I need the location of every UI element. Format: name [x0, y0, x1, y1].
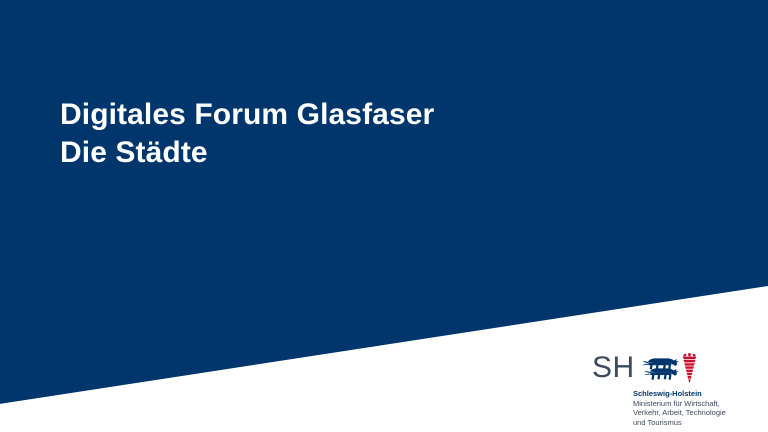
sh-wordmark: SH — [592, 353, 635, 383]
logo-department-line-1: Ministerium für Wirtschaft, — [633, 399, 752, 409]
coat-of-arms — [640, 350, 700, 386]
logo-department-line-3: und Tourismus — [633, 418, 752, 428]
logo-department-line-2: Verkehr, Arbeit, Technologie — [633, 408, 752, 418]
title-slide: Digitales Forum Glasfaser Die Städte SH — [0, 0, 768, 432]
slide-title-line-2: Die Städte — [60, 134, 660, 172]
logo-text-block: Schleswig-Holstein Ministerium für Wirts… — [633, 389, 752, 427]
nettle-leaf-icon — [682, 353, 696, 383]
slide-title-line-1: Digitales Forum Glasfaser — [60, 96, 660, 134]
schleswig-holstein-logo: SH — [592, 350, 752, 427]
title-block: Digitales Forum Glasfaser Die Städte — [60, 96, 660, 172]
logo-organisation: Schleswig-Holstein — [633, 389, 752, 399]
logo-mark: SH — [592, 350, 752, 386]
heraldic-lions-icon — [640, 350, 700, 386]
